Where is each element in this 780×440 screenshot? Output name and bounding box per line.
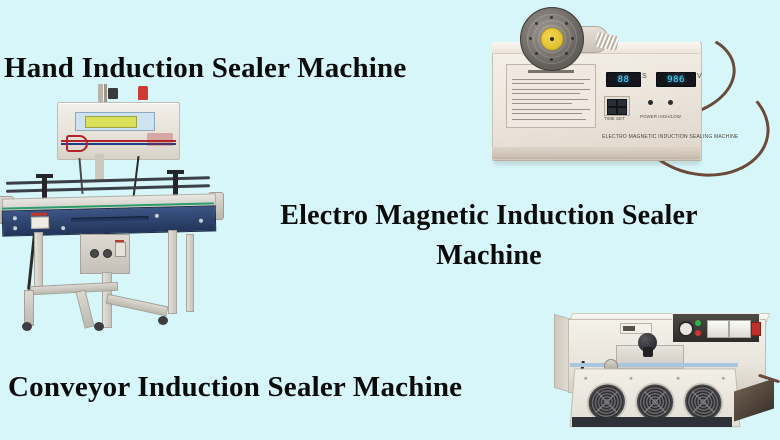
conveyor-warning-label-strip bbox=[31, 213, 47, 216]
conveyor-base-strut-outer bbox=[24, 290, 34, 326]
conveyor-sensor-block bbox=[108, 88, 118, 99]
conveyor-head-support-column bbox=[95, 154, 104, 182]
conveyor-brand-wordmark bbox=[147, 133, 173, 146]
hand-sealer-brand-strip: ELECTRO MAGNETIC INDUCTION SEALING MACHI… bbox=[602, 134, 738, 140]
conveyor-stand-leg-far-right bbox=[186, 234, 194, 312]
conveyor-base-rail bbox=[106, 294, 169, 317]
hand-sealer-key-set[interactable] bbox=[607, 107, 617, 115]
hand-sealer-high-low-button[interactable] bbox=[668, 100, 673, 105]
hand-sealer-power-select-button[interactable] bbox=[648, 100, 653, 105]
conveyor-control-box bbox=[80, 234, 130, 274]
electro-sealer-tray-screw bbox=[584, 377, 587, 380]
hand-sealer-timer-caption: TIME SET bbox=[604, 116, 625, 121]
conveyor-sealing-head-unit bbox=[57, 102, 180, 160]
hand-sealer-head-center-hub bbox=[550, 37, 554, 41]
hand-sealer-timer-keypad[interactable] bbox=[604, 96, 630, 116]
hand-sealer-power-unit: V bbox=[697, 73, 702, 80]
conveyor-brand-logo-icon bbox=[66, 135, 88, 152]
electro-sealer-meter-left bbox=[707, 320, 729, 338]
hand-sealer-timer-display: 88 bbox=[606, 72, 641, 87]
promotional-banner: Hand Induction Sealer Machine Electro Ma… bbox=[0, 0, 780, 440]
conveyor-frame-bolt bbox=[155, 214, 159, 218]
hand-sealer-drop-shadow bbox=[494, 159, 700, 164]
electro-sealer-tray-screw bbox=[629, 377, 632, 380]
conveyor-castor-wheel-left bbox=[22, 322, 32, 331]
hand-sealer-head-bolt bbox=[535, 52, 538, 55]
hand-sealer-label-text-line bbox=[512, 99, 588, 100]
electro-sealer-conveyor-slot bbox=[572, 417, 732, 427]
hand-sealer-label-text-line bbox=[512, 83, 584, 84]
electro-sealer-meter-right bbox=[729, 320, 751, 338]
conveyor-frame-slot bbox=[71, 216, 149, 222]
electro-sealer-start-button[interactable] bbox=[695, 320, 701, 326]
hand-sealer-induction-head bbox=[520, 7, 584, 71]
conveyor-mast-post-inner bbox=[104, 84, 107, 104]
conveyor-castor-wheel-right bbox=[158, 316, 168, 325]
conveyor-spec-label bbox=[31, 216, 49, 228]
hand-sealer-bottom-face bbox=[492, 147, 700, 159]
conveyor-head-cable bbox=[132, 156, 139, 198]
hand-sealer-head-bolt bbox=[565, 52, 568, 55]
conveyor-frame-bolt bbox=[13, 226, 17, 230]
conveyor-control-display-bezel bbox=[75, 112, 155, 131]
hand-sealer-label-text-line bbox=[512, 79, 590, 80]
hand-sealer-head-bolt bbox=[571, 37, 574, 40]
conveyor-frame-bolt bbox=[199, 219, 203, 223]
hand-sealer-timer-value: 88 bbox=[618, 75, 630, 85]
caption-conveyor-induction-sealer: Conveyor Induction Sealer Machine bbox=[8, 371, 462, 404]
hand-sealer-label-text-line bbox=[512, 119, 586, 120]
electro-sealer-stop-button[interactable] bbox=[695, 330, 701, 336]
hand-sealer-head-bolt bbox=[565, 22, 568, 25]
hand-sealer-key-up[interactable] bbox=[607, 99, 617, 107]
electro-sealer-badge-mark bbox=[623, 326, 635, 331]
hand-sealer-label-text-line bbox=[512, 113, 582, 114]
hand-sealer-key-enter[interactable] bbox=[617, 107, 627, 115]
conveyor-frame-bolt bbox=[61, 226, 65, 230]
electro-sealer-tray-screw bbox=[677, 377, 680, 380]
hand-sealer-label-text-line bbox=[512, 89, 590, 90]
hand-sealer-power-caption: POWER HIGH/LOW bbox=[640, 114, 681, 119]
electro-sealer-knob-stem bbox=[643, 347, 653, 357]
conveyor-speed-knob[interactable] bbox=[90, 249, 99, 258]
caption-electro-line-2: Machine bbox=[222, 236, 756, 276]
hand-sealer-key-down[interactable] bbox=[617, 99, 627, 107]
hand-sealer-head-bolt bbox=[550, 58, 553, 61]
electro-sealer-control-panel bbox=[672, 313, 760, 343]
hand-sealer-head-bolt bbox=[535, 22, 538, 25]
conveyor-base-strut-left bbox=[76, 289, 95, 328]
conveyor-indicator-lamp bbox=[138, 86, 148, 100]
electro-sealer-tray-edge-highlight bbox=[570, 363, 738, 367]
caption-electro-line-1: Electro Magnetic Induction Sealer bbox=[222, 196, 756, 236]
hand-sealer-operating-directive-label bbox=[506, 64, 596, 128]
hand-sealer-head-bolt bbox=[550, 16, 553, 19]
hand-sealer-label-text-line bbox=[512, 103, 572, 104]
electro-magnetic-induction-sealer-machine-image bbox=[546, 305, 780, 440]
conveyor-guide-rail-lower bbox=[6, 184, 210, 193]
conveyor-power-switch[interactable] bbox=[115, 242, 126, 257]
conveyor-lcd-screen bbox=[85, 116, 137, 128]
hand-sealer-power-value: 986 bbox=[667, 75, 685, 85]
conveyor-castor-wheel-center bbox=[94, 322, 104, 331]
electro-sealer-tray-screw bbox=[722, 377, 725, 380]
hand-sealer-head-bolt bbox=[529, 37, 532, 40]
hand-sealer-timer-unit: S bbox=[642, 73, 647, 80]
conveyor-stand-leg-rear-right bbox=[168, 230, 177, 314]
hand-induction-sealer-machine-image: 88 S 986 V TIME SET POWER HIGH/LOW ELECT… bbox=[484, 2, 780, 188]
conveyor-frame-bolt bbox=[13, 216, 17, 220]
caption-hand-induction-sealer: Hand Induction Sealer Machine bbox=[4, 52, 406, 85]
caption-electro-magnetic-induction-sealer: Electro Magnetic Induction Sealer Machin… bbox=[222, 196, 756, 276]
hand-sealer-label-text-line bbox=[512, 93, 580, 94]
electro-sealer-selector-dial[interactable] bbox=[678, 321, 694, 337]
conveyor-induction-sealer-machine-image bbox=[0, 84, 228, 340]
electro-sealer-emergency-switch[interactable] bbox=[751, 322, 761, 336]
hand-sealer-power-display: 986 bbox=[656, 72, 696, 87]
conveyor-power-knob[interactable] bbox=[103, 249, 112, 258]
hand-sealer-label-text-line bbox=[512, 109, 590, 110]
